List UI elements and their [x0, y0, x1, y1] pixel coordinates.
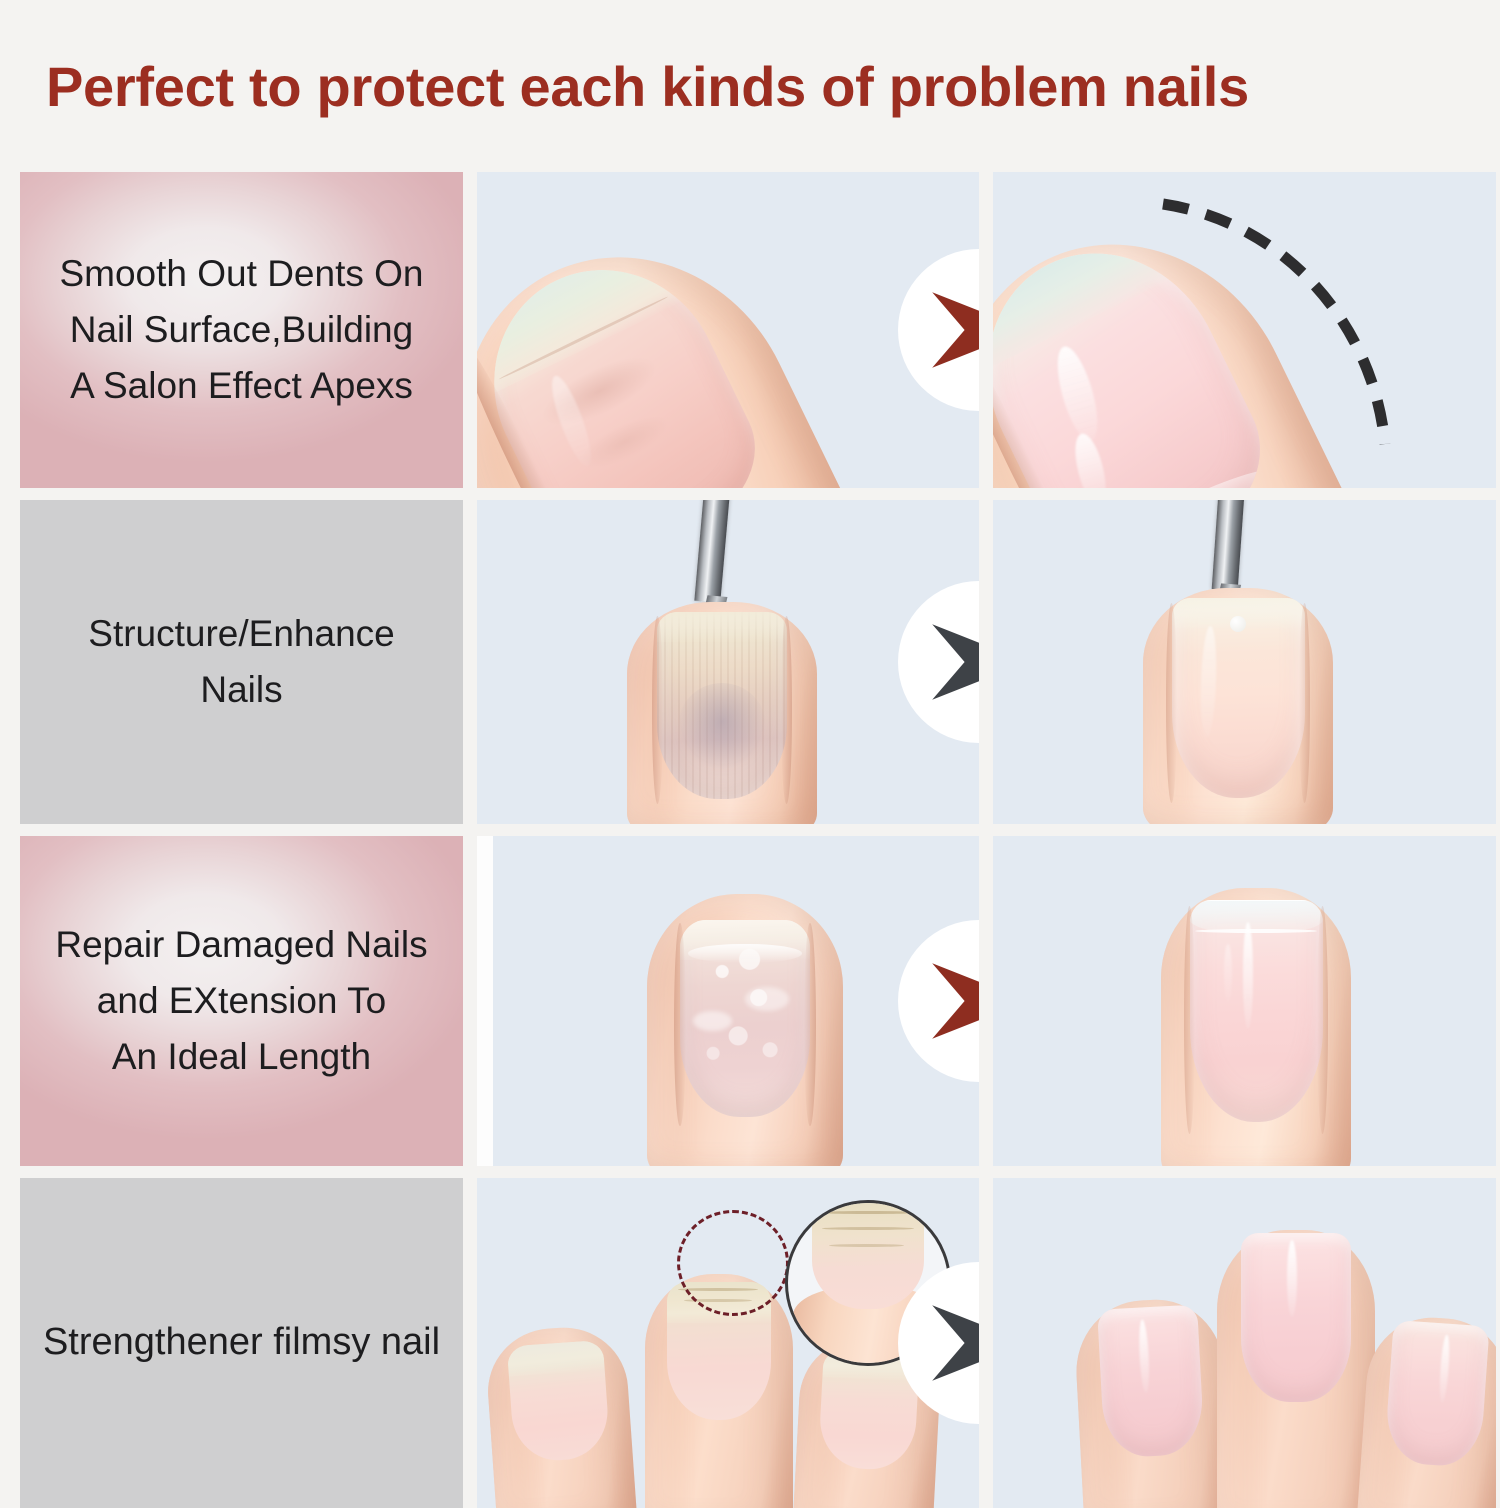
strengthened-nail-plate	[1097, 1305, 1205, 1459]
page-title: Perfect to protect each kinds of problem…	[46, 58, 1466, 117]
strengthened-nail-plate	[1241, 1233, 1352, 1401]
benefit-label-smooth-dents: Smooth Out Dents On Nail Surface,Buildin…	[20, 172, 463, 488]
damaged-nail-plate	[680, 920, 809, 1117]
benefits-grid: Smooth Out Dents On Nail Surface,Buildin…	[20, 172, 1482, 1482]
benefit-label-text: Repair Damaged Nails and EXtension To An…	[39, 917, 443, 1086]
benefit-label-text: Strengthener filmsy nail	[27, 1314, 456, 1372]
enhanced-nail-plate	[1172, 598, 1305, 798]
benefit-label-strengthener: Strengthener filmsy nail	[20, 1178, 463, 1508]
photo-before-damaged-nail	[477, 836, 979, 1166]
photo-after-smooth-apex-nail	[993, 172, 1496, 488]
benefit-label-repair-extension: Repair Damaged Nails and EXtension To An…	[20, 836, 463, 1166]
photo-before-structure-nail	[477, 500, 979, 824]
natural-nail-plate	[657, 612, 786, 799]
benefit-label-text: Structure/Enhance Nails	[72, 606, 410, 718]
photo-before-dented-nail	[477, 172, 979, 488]
photo-before-flimsy-nails	[477, 1178, 979, 1508]
photo-after-extended-nail	[993, 836, 1496, 1166]
photo-after-structure-nail	[993, 500, 1496, 824]
dashed-highlight-circle-icon	[677, 1210, 789, 1316]
cuticle-pusher-tool	[1212, 500, 1245, 591]
extended-nail-plate	[1190, 900, 1323, 1122]
cuticle-pusher-tool	[694, 500, 729, 603]
benefit-label-structure-enhance: Structure/Enhance Nails	[20, 500, 463, 824]
dashed-apex-arc-icon	[1123, 182, 1463, 488]
photo-after-strong-nails	[993, 1178, 1496, 1508]
benefit-label-text: Smooth Out Dents On Nail Surface,Buildin…	[43, 246, 439, 415]
